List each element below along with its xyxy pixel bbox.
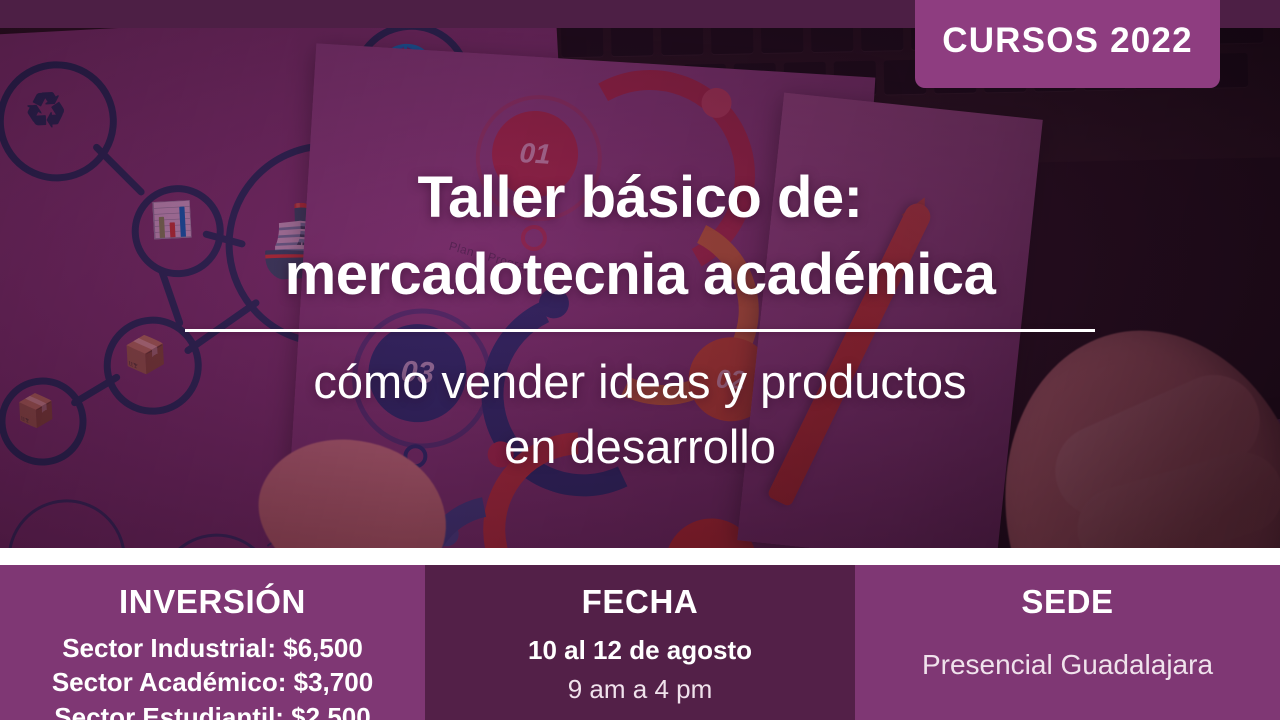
cursos-badge: CURSOS 2022 [915, 0, 1220, 88]
info-column-sede: SEDE Presencial Guadalajara [855, 565, 1280, 720]
inversion-line-industrial: Sector Industrial: $6,500 [62, 631, 363, 665]
info-column-inversion: INVERSIÓN Sector Industrial: $6,500 Sect… [0, 565, 425, 720]
fecha-time: 9 am a 4 pm [568, 671, 713, 707]
cursos-badge-label: CURSOS 2022 [942, 21, 1193, 61]
white-separator-band [0, 548, 1280, 565]
inversion-line-academico: Sector Académico: $3,700 [52, 665, 373, 699]
inversion-heading: INVERSIÓN [119, 583, 306, 621]
hero-photo: 🚢 ♻ 📊 📦 📦 🌐 ✈ 👤 [0, 0, 1280, 548]
course-title-line-1: Taller básico de: [0, 160, 1280, 237]
fecha-heading: FECHA [582, 583, 699, 621]
info-column-fecha: FECHA 10 al 12 de agosto 9 am a 4 pm [425, 565, 855, 720]
info-bar: INVERSIÓN Sector Industrial: $6,500 Sect… [0, 565, 1280, 720]
course-promo-poster: 🚢 ♻ 📊 📦 📦 🌐 ✈ 👤 [0, 0, 1280, 720]
sede-heading: SEDE [1021, 583, 1113, 621]
course-subtitle-line-1: cómo vender ideas y productos [0, 350, 1280, 415]
fecha-date: 10 al 12 de agosto [528, 633, 752, 667]
course-title-line-2: mercadotecnia académica [0, 237, 1280, 314]
course-subtitle: cómo vender ideas y productos en desarro… [0, 350, 1280, 480]
headline-block: Taller básico de: mercadotecnia académic… [0, 160, 1280, 480]
course-subtitle-line-2: en desarrollo [0, 415, 1280, 480]
title-divider [185, 329, 1095, 332]
inversion-line-estudiantil: Sector Estudiantil: $2,500 [54, 700, 370, 720]
sede-value: Presencial Guadalajara [922, 645, 1213, 684]
